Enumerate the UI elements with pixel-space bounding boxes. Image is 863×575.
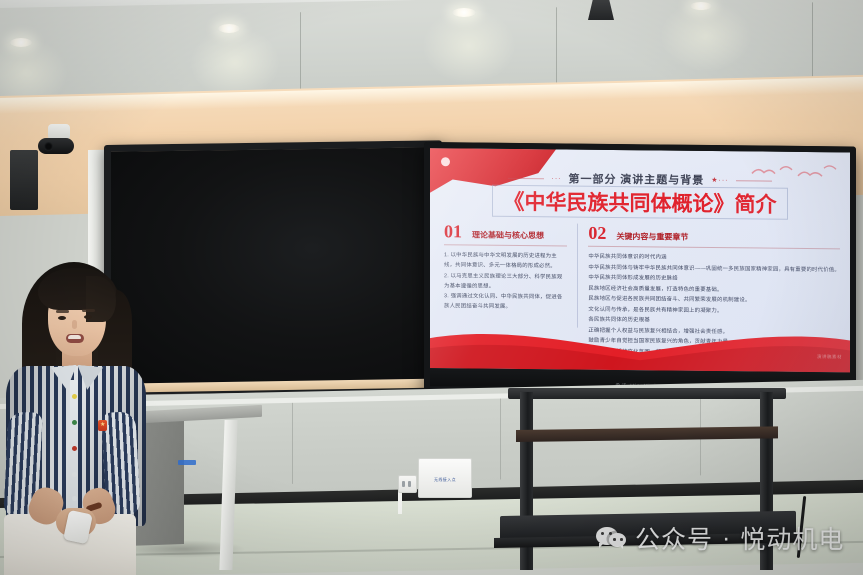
teeth (68, 335, 81, 339)
slide-corner-watermark: 演讲稿素材 (817, 354, 842, 360)
eyebrow-rule-right (736, 180, 772, 181)
wireless-access-point[interactable]: 无线接入点 (418, 458, 472, 498)
watermark-account: 悦动机电 (740, 520, 844, 556)
classroom-photo-scene: 智慧黑板 INTERACTIVE PANEL ··· 第一部分 演讲主题与背景 … (0, 0, 863, 575)
body-line: 3. 强调通过文化认同、中华民族共同体，促进各族人民团结奋斗共同发展。 (444, 291, 567, 313)
badge-star-icon: ★ (100, 422, 105, 428)
eyebrow-dots-left: ··· (551, 175, 561, 182)
camera-lens-icon (44, 142, 53, 151)
eye-right (84, 315, 92, 319)
left-panel-screen (111, 147, 435, 388)
wall-speaker (10, 150, 38, 210)
ceiling-downlight (452, 8, 476, 17)
access-point-label: 无线接入点 (434, 477, 456, 483)
presentation-slide: ··· 第一部分 演讲主题与背景 ★··· 《中华民族共同体概论》简介 01 理… (430, 148, 850, 372)
column-header: 01 理论基础与核心思想 (444, 222, 567, 241)
watermark-prefix: 公众号 (635, 520, 713, 556)
column-heading: 关键内容与重要章节 (616, 231, 688, 243)
column-divider (444, 244, 567, 246)
cable-conduit (398, 490, 402, 514)
presenter: ★ (0, 262, 150, 575)
wechat-logo (596, 526, 626, 550)
ceiling-downlight (10, 38, 32, 47)
ceiling-downlight (690, 2, 712, 10)
slide-column-02: 02 关键内容与重要章节 中华民族共同体意识的时代内涵 中华民族共同体与铸牢中华… (577, 224, 840, 331)
eyebrow-rule-left (508, 177, 544, 178)
cart-top-bar (508, 388, 786, 399)
eyebrow-dots-right: ★··· (711, 176, 728, 184)
slide-column-01: 01 理论基础与核心思想 1. 以中华民族与中华文明发展的历史进程为主线，共同体… (444, 222, 567, 327)
red-wave-graphic (430, 324, 850, 372)
lectern-indicator-light (178, 460, 196, 465)
eye-left (58, 316, 66, 320)
column-number: 01 (444, 222, 462, 240)
wechat-watermark: 公众号 · 悦动机电 (596, 520, 844, 556)
nose (72, 320, 77, 329)
power-outlet[interactable] (398, 475, 417, 493)
column-number: 02 (588, 224, 606, 242)
watermark-separator: · (722, 524, 731, 553)
slide-title: 《中华民族共同体概论》简介 (430, 185, 850, 219)
column-header: 02 关键内容与重要章节 (588, 224, 840, 245)
presentation-display[interactable]: ··· 第一部分 演讲主题与背景 ★··· 《中华民族共同体概论》简介 01 理… (424, 142, 856, 397)
slide-columns: 01 理论基础与核心思想 1. 以中华民族与中华文明发展的历史进程为主线，共同体… (444, 222, 840, 330)
column-divider (588, 246, 840, 250)
body-line: 1. 以中华民族与中华文明发展的历史进程为主线，共同体意识、多元一体格局的形成必… (444, 250, 567, 272)
ceiling-downlight (218, 24, 240, 33)
body-line: 2. 以马克思主义民族理论三大部分、科学民族观为基本遵循的思想。 (444, 271, 567, 293)
left-interactive-panel[interactable]: 智慧黑板 INTERACTIVE PANEL (104, 140, 442, 395)
column-heading: 理论基础与核心思想 (472, 230, 544, 242)
flag-circle-icon (441, 157, 450, 166)
